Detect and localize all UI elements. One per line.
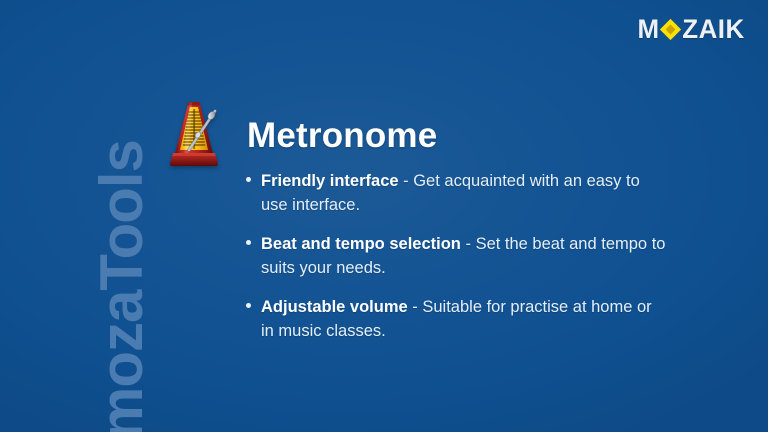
page-title: Metronome	[247, 118, 437, 153]
feature-separator: -	[399, 172, 414, 190]
mozatools-watermark: mozaTools	[90, 110, 154, 432]
diamond-icon	[660, 19, 681, 40]
bullet-icon	[246, 177, 251, 182]
logo-suffix-text: ZAIK	[682, 16, 744, 43]
bullet-icon	[246, 303, 251, 308]
feature-separator: -	[461, 235, 476, 253]
list-item: Adjustable volume - Suitable for practis…	[246, 296, 666, 343]
feature-title: Beat and tempo selection	[261, 235, 461, 253]
feature-separator: -	[408, 298, 423, 316]
bullet-icon	[246, 240, 251, 245]
metronome-icon	[163, 98, 225, 168]
logo-prefix-text: M	[637, 16, 659, 43]
feature-title: Friendly interface	[261, 172, 399, 190]
feature-list: Friendly interface - Get acquainted with…	[246, 170, 666, 344]
header-row: Metronome	[163, 98, 437, 168]
slide-root: mozaTools M ZAIK	[0, 0, 768, 432]
feature-title: Adjustable volume	[261, 298, 408, 316]
mozaik-logo[interactable]: M ZAIK	[637, 16, 746, 43]
watermark-label: mozaTools	[92, 140, 152, 432]
list-item: Friendly interface - Get acquainted with…	[246, 170, 666, 217]
list-item: Beat and tempo selection - Set the beat …	[246, 233, 666, 280]
